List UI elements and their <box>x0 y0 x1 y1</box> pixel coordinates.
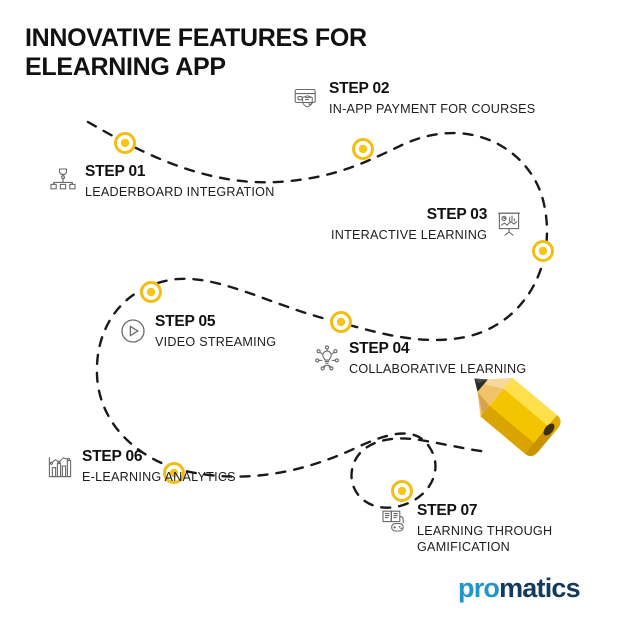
step-item-02[interactable]: STEP 02 IN-APP PAYMENT FOR COURSES <box>292 80 535 117</box>
step-description: LEADERBOARD INTEGRATION <box>85 184 275 200</box>
logo-part-pro: pro <box>458 573 499 603</box>
step-item-06[interactable]: STEP 06 E-LEARNING ANALYTICS <box>45 448 236 485</box>
step-description: LEARNING THROUGH GAMIFICATION <box>417 523 552 555</box>
step-item-05[interactable]: STEP 05 VIDEO STREAMING <box>118 313 276 350</box>
step-description: IN-APP PAYMENT FOR COURSES <box>329 101 535 117</box>
step-name: STEP 05 <box>155 313 276 331</box>
step-name: STEP 01 <box>85 163 275 181</box>
step-name: STEP 07 <box>417 502 552 520</box>
step-description: E-LEARNING ANALYTICS <box>82 469 236 485</box>
bar-chart-analytics-icon <box>45 451 75 481</box>
play-circle-icon <box>118 316 148 346</box>
step-name: STEP 06 <box>82 448 236 466</box>
step-dot-core-04 <box>337 318 345 326</box>
step-description: VIDEO STREAMING <box>155 334 276 350</box>
network-lightbulb-icon <box>312 343 342 373</box>
promatics-logo: promatics <box>458 575 580 602</box>
step-dot-core-05 <box>147 288 155 296</box>
presentation-board-icon <box>494 209 524 239</box>
step-name: STEP 04 <box>349 340 526 358</box>
step-dot-core-03 <box>539 247 547 255</box>
step-item-01[interactable]: STEP 01 LEADERBOARD INTEGRATION <box>48 163 275 200</box>
step-dot-core-07 <box>398 487 406 495</box>
step-item-07[interactable]: STEP 07 LEARNING THROUGH GAMIFICATION <box>380 502 552 555</box>
credit-card-shield-icon <box>292 83 322 113</box>
step-dot-core-02 <box>359 145 367 153</box>
logo-part-matics: matics <box>499 573 580 603</box>
leaderboard-hierarchy-icon <box>48 166 78 196</box>
step-dot-core-01 <box>121 139 129 147</box>
infographic-canvas: INNOVATIVE FEATURES FOR ELEARNING APP ST… <box>0 0 626 626</box>
book-gamepad-icon <box>380 505 410 535</box>
step-name: STEP 03 <box>427 206 487 224</box>
step-description: INTERACTIVE LEARNING <box>331 227 487 243</box>
pencil-illustration <box>452 370 570 480</box>
step-item-03[interactable]: STEP 03 INTERACTIVE LEARNING <box>331 206 524 243</box>
step-name: STEP 02 <box>329 80 535 98</box>
